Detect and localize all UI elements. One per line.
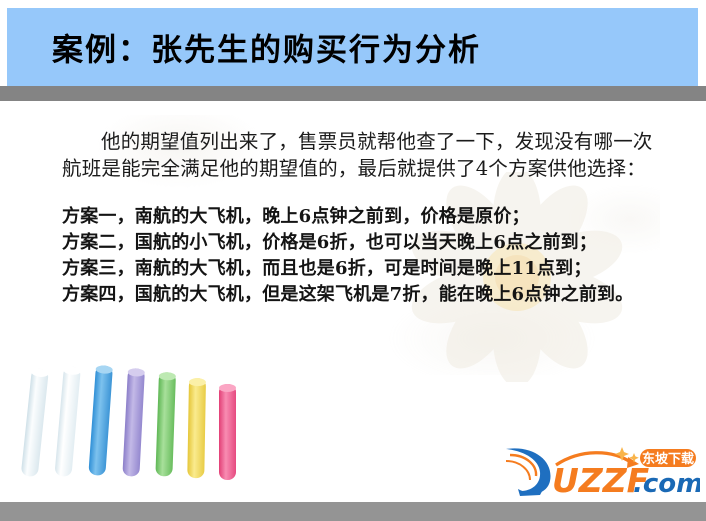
colored-chalk-sticks	[18, 362, 248, 480]
option-item-3: 方案三，南航的大飞机，而且也是6折，可是时间是晚上11点到；	[62, 256, 662, 282]
option-item-1: 方案一，南航的大飞机，晚上6点钟之前到，价格是原价；	[62, 204, 662, 230]
title-separator-bar	[0, 86, 706, 101]
bottom-bar	[0, 502, 706, 521]
options-list: 方案一，南航的大飞机，晚上6点钟之前到，价格是原价； 方案二，国航的小飞机，价格…	[62, 204, 662, 308]
swoosh-icon	[506, 448, 551, 496]
page-title: 案例：张先生的购买行为分析	[52, 25, 481, 70]
option-item-4: 方案四，国航的大飞机，但是这架飞机是7折，能在晚上6点钟之前到。	[62, 282, 662, 308]
option-item-2: 方案二，国航的小飞机，价格是6折，也可以当天晚上6点之前到；	[62, 230, 662, 256]
uzzf-watermark-logo: UZZF .com 东坡下载	[500, 439, 700, 501]
logo-badge: 东坡下载	[640, 449, 696, 467]
logo-domain-text: .com	[633, 469, 700, 499]
intro-paragraph: 他的期望值列出来了，售票员就帮他查了一下，发现没有哪一次航班是能完全满足他的期望…	[62, 128, 662, 182]
presentation-slide: 案例：张先生的购买行为分析	[0, 0, 706, 521]
title-banner: 案例：张先生的购买行为分析	[7, 8, 698, 86]
logo-badge-text: 东坡下载	[642, 451, 694, 467]
slide-body: 他的期望值列出来了，售票员就帮他查了一下，发现没有哪一次航班是能完全满足他的期望…	[62, 128, 662, 308]
